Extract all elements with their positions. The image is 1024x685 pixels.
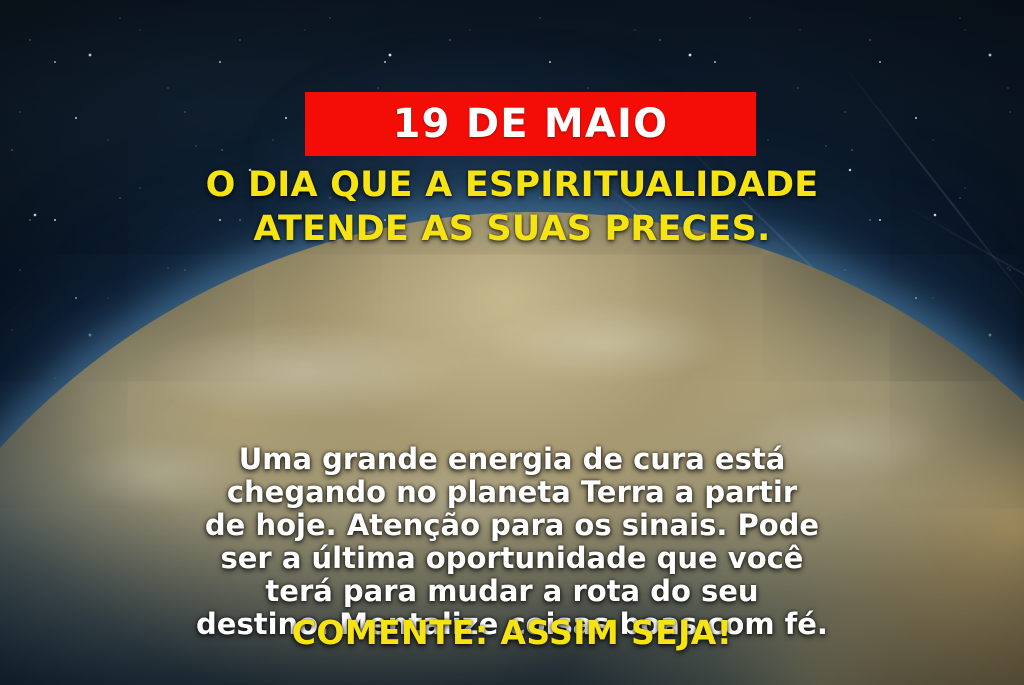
headline-line-1: O DIA QUE A ESPIRITUALIDADE [0,164,1024,208]
body-copy-line-2: chegando no planeta Terra a partir [47,476,977,509]
headline: O DIA QUE A ESPIRITUALIDADE ATENDE AS SU… [0,164,1024,252]
body-copy: Uma grande energia de cura está chegando… [47,443,977,641]
headline-line-2: ATENDE AS SUAS PRECES. [0,208,1024,252]
date-banner-label: 19 DE MAIO [393,104,669,144]
poster-canvas: 19 DE MAIO O DIA QUE A ESPIRITUALIDADE A… [0,0,1024,685]
body-copy-line-4: ser a última oportunidade que você [47,542,977,575]
call-to-action-text: COMENTE: ASSIM SEJA! [0,615,1024,651]
body-copy-line-3: de hoje. Atenção para os sinais. Pode [47,509,977,542]
body-copy-line-5: terá para mudar a rota do seu [47,575,977,608]
date-banner: 19 DE MAIO [305,92,756,156]
body-copy-line-1: Uma grande energia de cura está [47,443,977,476]
poster-content: 19 DE MAIO O DIA QUE A ESPIRITUALIDADE A… [0,0,1024,685]
